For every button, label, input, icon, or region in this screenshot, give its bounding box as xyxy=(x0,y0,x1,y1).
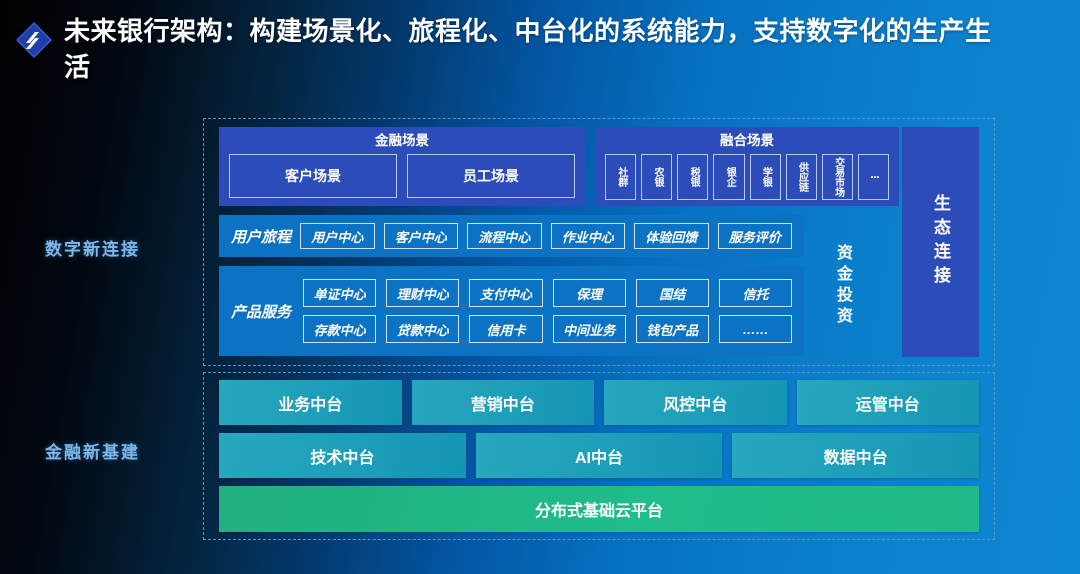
journey-chip-service-evaluation[interactable]: 服务评价 xyxy=(718,223,793,249)
product-service-row-1: 单证中心 理财中心 支付中心 保理 国结 信托 xyxy=(303,279,792,307)
product-chip-intermediary-business[interactable]: 中间业务 xyxy=(553,315,626,343)
fusion-chip-more[interactable]: ⋮ xyxy=(858,154,889,200)
product-service-row-2: 存款中心 贷款中心 信用卡 中间业务 钱包产品 …… xyxy=(303,315,792,343)
fusion-chip-community[interactable]: 社群 xyxy=(605,154,636,200)
platform-box-operations[interactable]: 运管中台 xyxy=(797,380,980,425)
platform-box-technology[interactable]: 技术中台 xyxy=(219,433,466,478)
ecosystem-connection-column[interactable]: 生态连接 xyxy=(902,127,979,357)
product-service-grid: 单证中心 理财中心 支付中心 保理 国结 信托 存款中心 贷款中心 信用卡 中间… xyxy=(303,279,792,343)
journey-chip-customer-center[interactable]: 客户中心 xyxy=(384,223,459,249)
financial-infrastructure-section: 业务中台 营销中台 风控中台 运管中台 技术中台 AI中台 数据中台 分布式基础… xyxy=(219,380,979,532)
fusion-scenario-title: 融合场景 xyxy=(720,133,774,149)
diamond-slash-logo-icon xyxy=(14,20,54,60)
financial-scenario-title: 金融场景 xyxy=(375,133,429,149)
cloud-platform-bar[interactable]: 分布式基础云平台 xyxy=(219,486,979,532)
platform-box-data[interactable]: 数据中台 xyxy=(732,433,979,478)
journey-chip-process-center[interactable]: 流程中心 xyxy=(467,223,542,249)
scenario-chip-customer[interactable]: 客户场景 xyxy=(229,154,397,198)
axis-label-financial-infrastructure: 金融新基建 xyxy=(45,438,140,463)
fusion-scenario-chips: 社群 农银 税银 银企 学银 供应链 交易市场 ⋮ xyxy=(605,154,889,200)
scenario-chip-employee[interactable]: 员工场景 xyxy=(407,154,575,198)
fusion-chip-trading-market[interactable]: 交易市场 xyxy=(822,154,853,200)
middle-platform-row-1: 业务中台 营销中台 风控中台 运管中台 xyxy=(219,380,979,425)
product-chip-more[interactable]: …… xyxy=(719,315,792,343)
page-header: 未来银行架构：构建场景化、旅程化、中台化的系统能力，支持数字化的生产生活 xyxy=(0,0,1080,104)
fusion-chip-tax-bank[interactable]: 税银 xyxy=(677,154,708,200)
product-chip-deposit-center[interactable]: 存款中心 xyxy=(303,315,376,343)
product-chip-trust[interactable]: 信托 xyxy=(719,279,792,307)
fusion-scenario-panel: 融合场景 社群 农银 税银 银企 学银 供应链 交易市场 ⋮ xyxy=(595,127,899,206)
page-title: 未来银行架构：构建场景化、旅程化、中台化的系统能力，支持数字化的生产生活 xyxy=(64,14,1004,86)
product-chip-document-center[interactable]: 单证中心 xyxy=(303,279,376,307)
journey-chip-user-center[interactable]: 用户中心 xyxy=(300,223,375,249)
financial-scenario-chips: 客户场景 员工场景 xyxy=(229,154,575,198)
fusion-chip-bank-enterprise[interactable]: 银企 xyxy=(713,154,744,200)
fusion-chip-agri-bank[interactable]: 农银 xyxy=(641,154,672,200)
fusion-chip-supply-chain[interactable]: 供应链 xyxy=(786,154,817,200)
platform-box-ai[interactable]: AI中台 xyxy=(476,433,723,478)
product-chip-payment-center[interactable]: 支付中心 xyxy=(469,279,542,307)
product-chip-wallet-product[interactable]: 钱包产品 xyxy=(636,315,709,343)
product-chip-credit-card[interactable]: 信用卡 xyxy=(469,315,542,343)
digital-connection-section: 金融场景 客户场景 员工场景 融合场景 社群 农银 税银 银企 学银 供应链 交… xyxy=(219,127,979,357)
product-service-label: 产品服务 xyxy=(231,301,291,322)
product-chip-wealth-center[interactable]: 理财中心 xyxy=(386,279,459,307)
capital-investment-label: 资金投资 xyxy=(830,244,854,328)
fusion-chip-school-bank[interactable]: 学银 xyxy=(750,154,781,200)
product-chip-factoring[interactable]: 保理 xyxy=(553,279,626,307)
ecosystem-connection-label: 生态连接 xyxy=(928,194,953,290)
scenario-row: 金融场景 客户场景 员工场景 融合场景 社群 农银 税银 银企 学银 供应链 交… xyxy=(219,127,979,206)
product-service-band: 产品服务 单证中心 理财中心 支付中心 保理 国结 信托 存款中心 贷款中心 信… xyxy=(219,266,804,356)
user-journey-band: 用户旅程 用户中心 客户中心 流程中心 作业中心 体验回馈 服务评价 xyxy=(219,215,804,257)
middle-platform-row-2: 技术中台 AI中台 数据中台 xyxy=(219,433,979,478)
product-chip-loan-center[interactable]: 贷款中心 xyxy=(386,315,459,343)
platform-box-business[interactable]: 业务中台 xyxy=(219,380,402,425)
journey-chip-operation-center[interactable]: 作业中心 xyxy=(551,223,626,249)
journey-chip-experience-feedback[interactable]: 体验回馈 xyxy=(634,223,709,249)
capital-investment-column: 资金投资 xyxy=(813,215,871,357)
financial-scenario-panel: 金融场景 客户场景 员工场景 xyxy=(219,127,585,206)
axis-label-digital-connection: 数字新连接 xyxy=(45,235,140,260)
user-journey-label: 用户旅程 xyxy=(231,226,291,247)
product-chip-intl-settlement[interactable]: 国结 xyxy=(636,279,709,307)
platform-box-risk-control[interactable]: 风控中台 xyxy=(604,380,787,425)
platform-box-marketing[interactable]: 营销中台 xyxy=(412,380,595,425)
